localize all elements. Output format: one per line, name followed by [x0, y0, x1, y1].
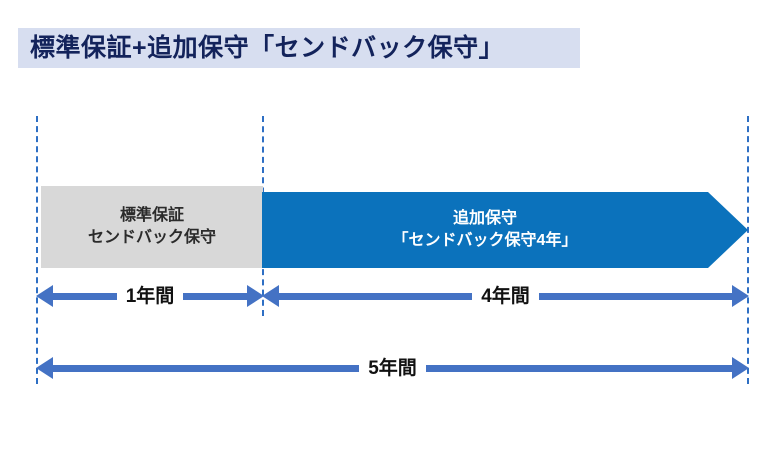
- additional-maintenance-label-line1: 追加保守: [453, 208, 517, 230]
- dimension-bar: [183, 293, 247, 300]
- dimension-bar: [53, 293, 117, 300]
- dimension-1-year: 1年間: [36, 281, 264, 311]
- arrow-head-left-icon: [36, 357, 53, 379]
- arrow-head-right-icon: [732, 357, 749, 379]
- arrow-head-left-icon: [262, 285, 279, 307]
- arrow-head-right-icon: [732, 285, 749, 307]
- guide-line-year-5: [747, 116, 749, 384]
- dimension-label: 5年間: [359, 359, 426, 378]
- dimension-bar: [539, 293, 732, 300]
- dimension-label: 4年間: [472, 287, 539, 306]
- additional-maintenance-block: 追加保守 「センドバック保守4年」: [262, 192, 748, 268]
- arrow-head-left-icon: [36, 285, 53, 307]
- title-banner: 標準保証+追加保守「センドバック保守」: [18, 28, 580, 68]
- dimension-5-years-total: 5年間: [36, 353, 749, 383]
- dimension-4-years: 4年間: [262, 281, 749, 311]
- diagram-canvas: 標準保証+追加保守「センドバック保守」 標準保証 センドバック保守 追加保守 「…: [0, 0, 768, 459]
- guide-line-start: [36, 116, 38, 384]
- additional-maintenance-label-line2: 「センドバック保守4年」: [393, 230, 578, 252]
- standard-warranty-label-line2: センドバック保守: [88, 227, 216, 249]
- dimension-bar: [279, 293, 472, 300]
- standard-warranty-block: 標準保証 センドバック保守: [41, 186, 263, 268]
- page-title: 標準保証+追加保守「センドバック保守」: [30, 36, 504, 61]
- dimension-bar: [426, 365, 732, 372]
- dimension-label: 1年間: [117, 287, 184, 306]
- standard-warranty-label-line1: 標準保証: [120, 205, 184, 227]
- dimension-bar: [53, 365, 359, 372]
